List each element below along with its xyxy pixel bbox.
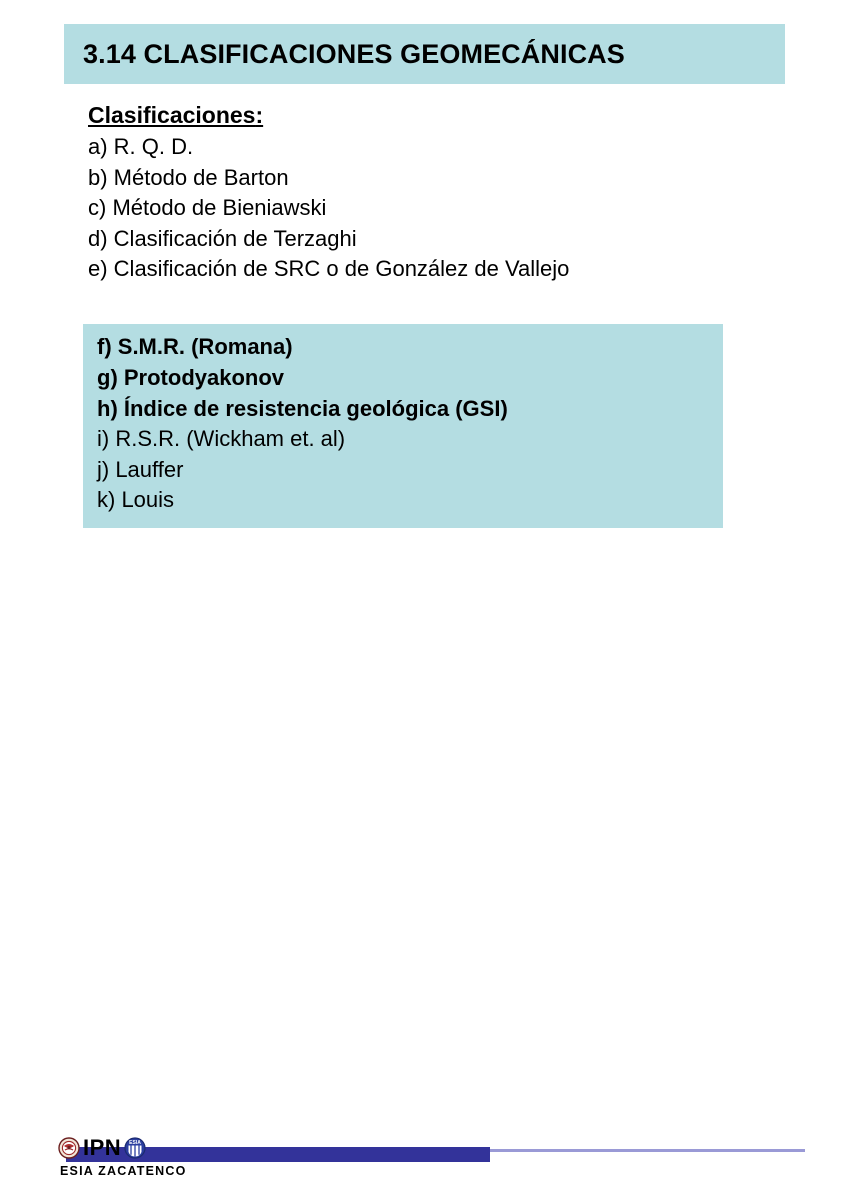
ipn-seal-icon [58, 1137, 80, 1159]
list-item: k) Louis [97, 485, 508, 516]
ipn-wordmark: IPN [83, 1137, 121, 1159]
list-item: d) Clasificación de Terzaghi [88, 224, 828, 255]
campus-wordmark: ESIA ZACATENCO [60, 1165, 187, 1178]
footer-brand: IPN ESIA [58, 1137, 146, 1159]
highlighted-list: f) S.M.R. (Romana) g) Protodyakonov h) Í… [97, 331, 508, 516]
body-lead-label: Clasificaciones [88, 102, 255, 128]
highlighted-list-box: f) S.M.R. (Romana) g) Protodyakonov h) Í… [83, 324, 723, 528]
page-title: 3.14 CLASIFICACIONES GEOMECÁNICAS [64, 39, 625, 70]
svg-text:ESIA: ESIA [129, 1140, 141, 1146]
list-item: h) Índice de resistencia geológica (GSI) [97, 393, 508, 424]
slide-title-band: 3.14 CLASIFICACIONES GEOMECÁNICAS [64, 24, 785, 84]
list-item: f) S.M.R. (Romana) [97, 331, 508, 362]
slide-footer: IPN ESIA ESIA ZACATENCO [0, 568, 848, 628]
list-item: b) Método de Barton [88, 163, 828, 194]
list-item: c) Método de Bieniawski [88, 193, 828, 224]
esia-seal-icon: ESIA [124, 1137, 146, 1159]
list-item: i) R.S.R. (Wickham et. al) [97, 424, 508, 455]
body-lead-colon: : [255, 102, 263, 128]
list-item: e) Clasificación de SRC o de González de… [88, 254, 828, 285]
footer-accent-rule [490, 1149, 805, 1152]
slide-body: Clasificaciones: a) R. Q. D. b) Método d… [88, 100, 828, 285]
list-item: g) Protodyakonov [97, 362, 508, 393]
list-item: j) Lauffer [97, 455, 508, 486]
list-item: a) R. Q. D. [88, 132, 828, 163]
body-lead-heading: Clasificaciones: [88, 100, 828, 130]
